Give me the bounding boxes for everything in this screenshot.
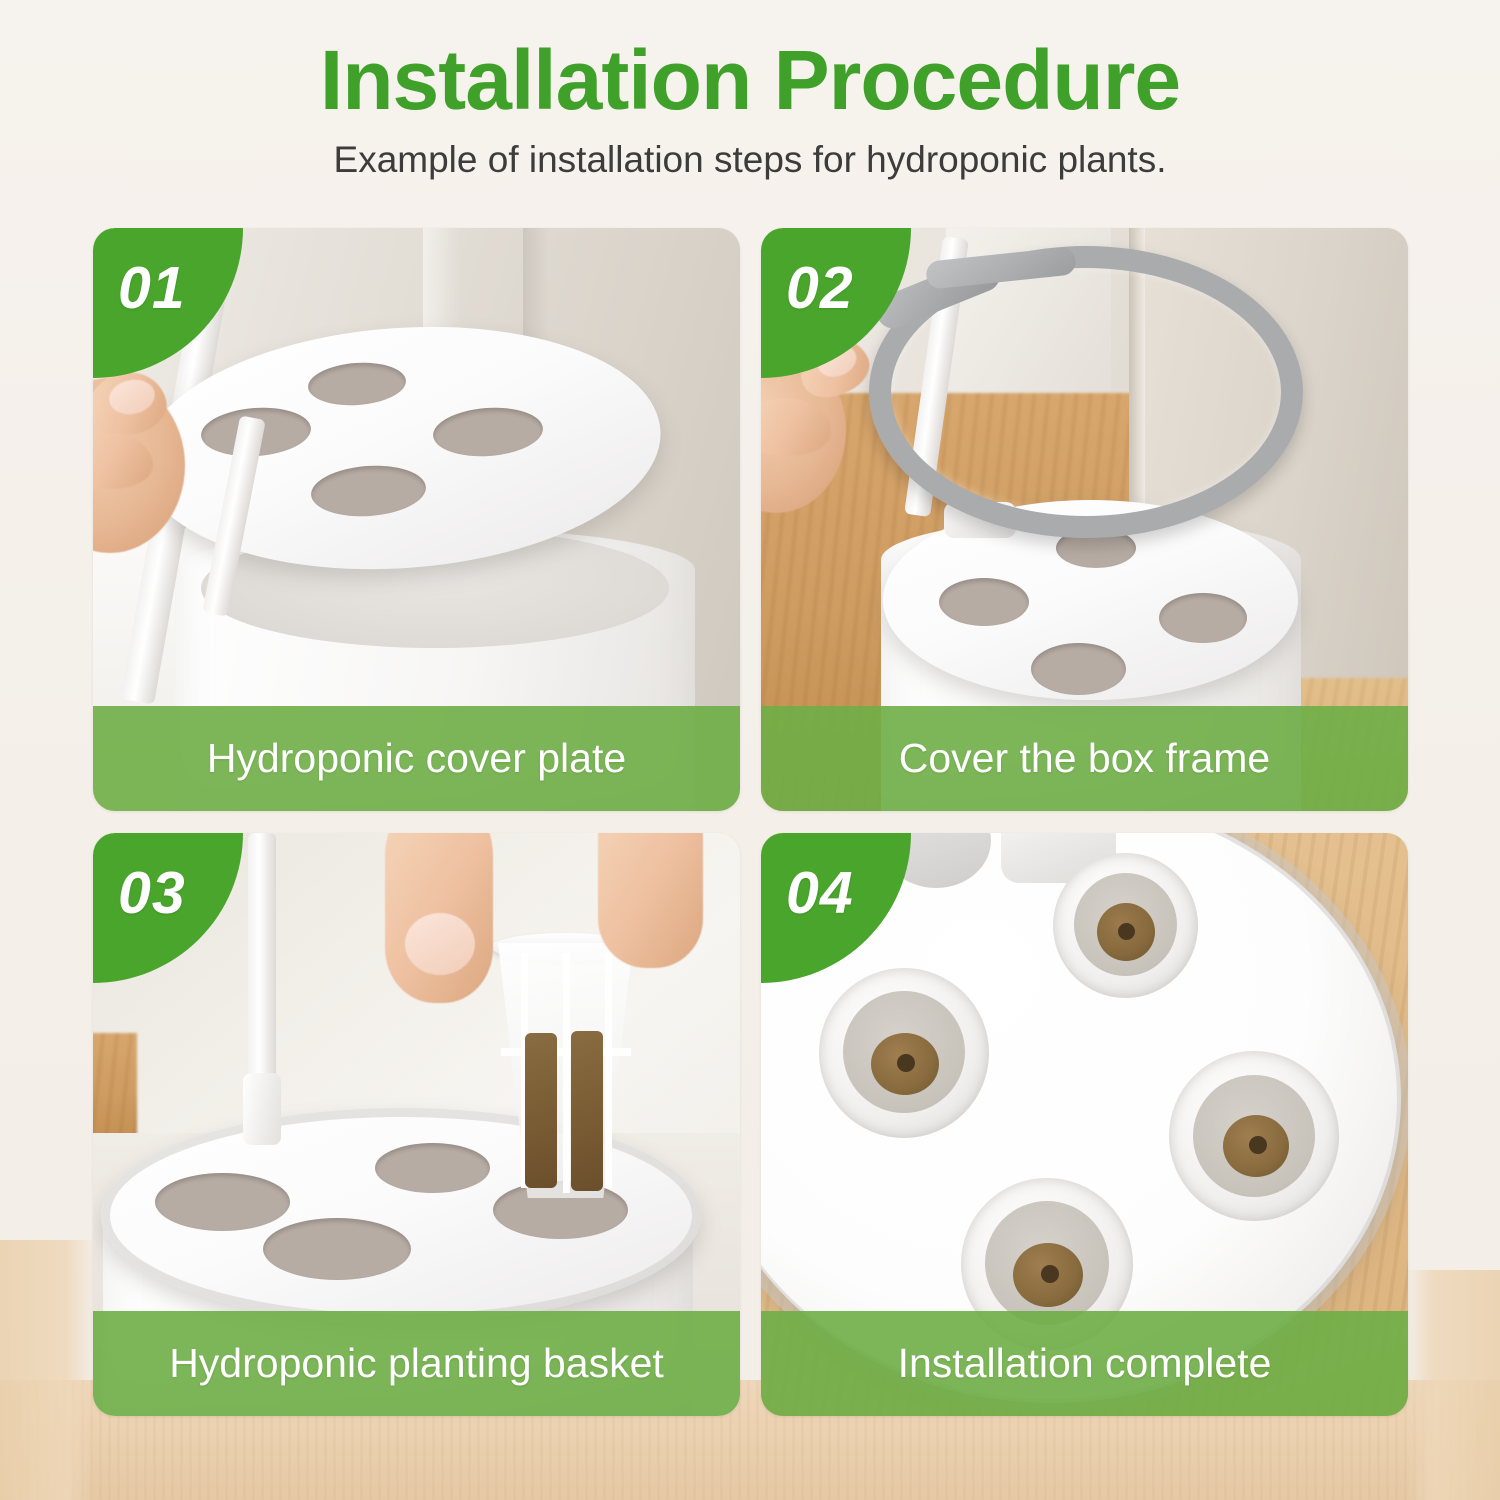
cover-plate-hole-right	[1159, 593, 1247, 643]
page-root: Installation Procedure Example of instal…	[0, 0, 1500, 1500]
page-wood-floor-right	[1405, 1270, 1500, 1500]
sponge-hole-bottom	[1041, 1265, 1059, 1283]
fingernail-left	[405, 913, 475, 975]
step-caption-text-03: Hydroponic planting basket	[169, 1341, 664, 1386]
basket-rib-3	[605, 953, 612, 1188]
step-caption-text-04: Installation complete	[898, 1341, 1272, 1386]
step-number-03: 03	[118, 864, 186, 923]
sponge-hole-left	[897, 1054, 915, 1072]
step-caption-bar-01: Hydroponic cover plate	[93, 706, 740, 811]
step-caption-bar-04: Installation complete	[761, 1311, 1408, 1416]
sponge-plug-left	[525, 1033, 557, 1188]
cover-plate-hole-left	[155, 1173, 290, 1231]
basket-rib-2	[563, 953, 570, 1193]
step-card-01[interactable]: 01 Hydroponic cover plate	[93, 228, 740, 811]
step-number-04: 04	[786, 864, 854, 923]
support-rod	[248, 833, 276, 1083]
step-card-04[interactable]: 04 Installation complete	[761, 833, 1408, 1416]
step-caption-text-02: Cover the box frame	[899, 736, 1270, 781]
rod-collar	[243, 1073, 281, 1145]
finger-right	[598, 833, 703, 968]
step-caption-bar-02: Cover the box frame	[761, 706, 1408, 811]
sponge-hole-right	[1249, 1136, 1267, 1154]
step-card-02[interactable]: 02 Cover the box frame	[761, 228, 1408, 811]
header: Installation Procedure Example of instal…	[0, 36, 1500, 183]
page-title: Installation Procedure	[0, 36, 1500, 124]
cover-plate-hole-top	[375, 1143, 490, 1193]
page-subtitle: Example of installation steps for hydrop…	[0, 138, 1500, 182]
basket-band	[501, 1048, 631, 1056]
step-caption-bar-03: Hydroponic planting basket	[93, 1311, 740, 1416]
step-card-03[interactable]: 03 Hydroponic planting basket	[93, 833, 740, 1416]
cover-plate-hole-bottom	[1031, 643, 1126, 695]
steps-grid: 01 Hydroponic cover plate	[93, 228, 1408, 1444]
step-caption-text-01: Hydroponic cover plate	[207, 736, 626, 781]
sponge-plug-right	[571, 1031, 603, 1191]
cover-plate-hole-bottom	[263, 1218, 411, 1280]
page-wood-floor-left	[0, 1240, 95, 1500]
sponge-hole-top	[1118, 923, 1135, 940]
step-number-02: 02	[786, 259, 854, 318]
step-number-01: 01	[118, 259, 186, 318]
cover-plate-hole-left	[939, 578, 1029, 626]
